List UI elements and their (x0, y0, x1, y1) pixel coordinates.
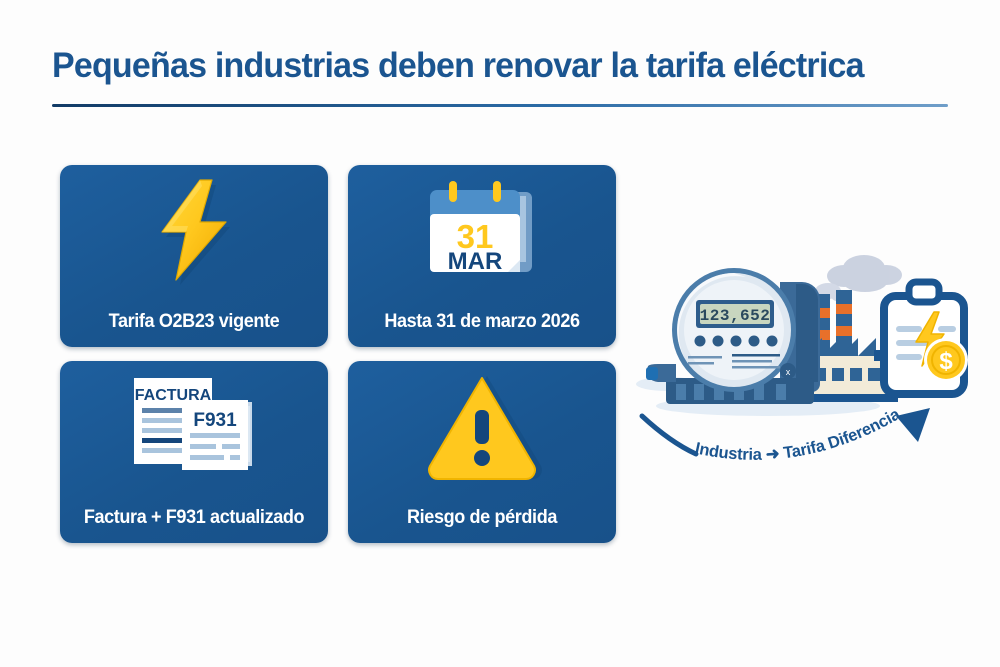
electric-meter-icon: 123,652 x (646, 268, 820, 404)
card-fecha-label: Hasta 31 de marzo 2026 (362, 311, 601, 333)
dollar-coin-icon: $ (939, 348, 953, 375)
arc-arrowhead-icon (896, 408, 930, 442)
card-fecha-art: 31 MAR (348, 171, 616, 289)
calendar-month: MAR (448, 248, 503, 275)
title-divider (52, 104, 948, 107)
calendar-icon: 31 MAR (416, 174, 548, 286)
clipboard-icon: $ (874, 282, 968, 394)
meter-display-value: 123,652 (700, 307, 771, 325)
industry-tariff-illustration: 123,652 x (628, 238, 968, 474)
document-heading-f931: F931 (193, 410, 237, 431)
title-area: Pequeñas industrias deben renovar la tar… (52, 44, 948, 110)
card-documentos-art: FACTURA F931 (60, 367, 328, 485)
card-documentos[interactable]: FACTURA F931 Factura + F931 actua (60, 361, 328, 543)
lightning-bolt-icon (146, 174, 242, 286)
documents-icon: FACTURA F931 (114, 370, 274, 482)
card-fecha[interactable]: 31 MAR Hasta 31 de marzo 2026 (348, 165, 616, 347)
card-riesgo[interactable]: Riesgo de pérdida (348, 361, 616, 543)
card-tarifa-label: Tarifa O2B23 vigente (74, 311, 313, 333)
page-title: Pequeñas industrias deben renovar la tar… (52, 44, 921, 88)
card-riesgo-label: Riesgo de pérdida (362, 507, 601, 529)
card-riesgo-art (348, 367, 616, 485)
card-documentos-label: Factura + F931 actualizado (74, 507, 313, 529)
meter-seal-icon: x (786, 367, 791, 377)
card-tarifa[interactable]: Tarifa O2B23 vigente (60, 165, 328, 347)
arc-stroke (642, 416, 696, 454)
card-tarifa-art (60, 171, 328, 289)
warning-triangle-icon (420, 370, 544, 482)
card-grid: Tarifa O2B23 vigente (60, 165, 616, 543)
